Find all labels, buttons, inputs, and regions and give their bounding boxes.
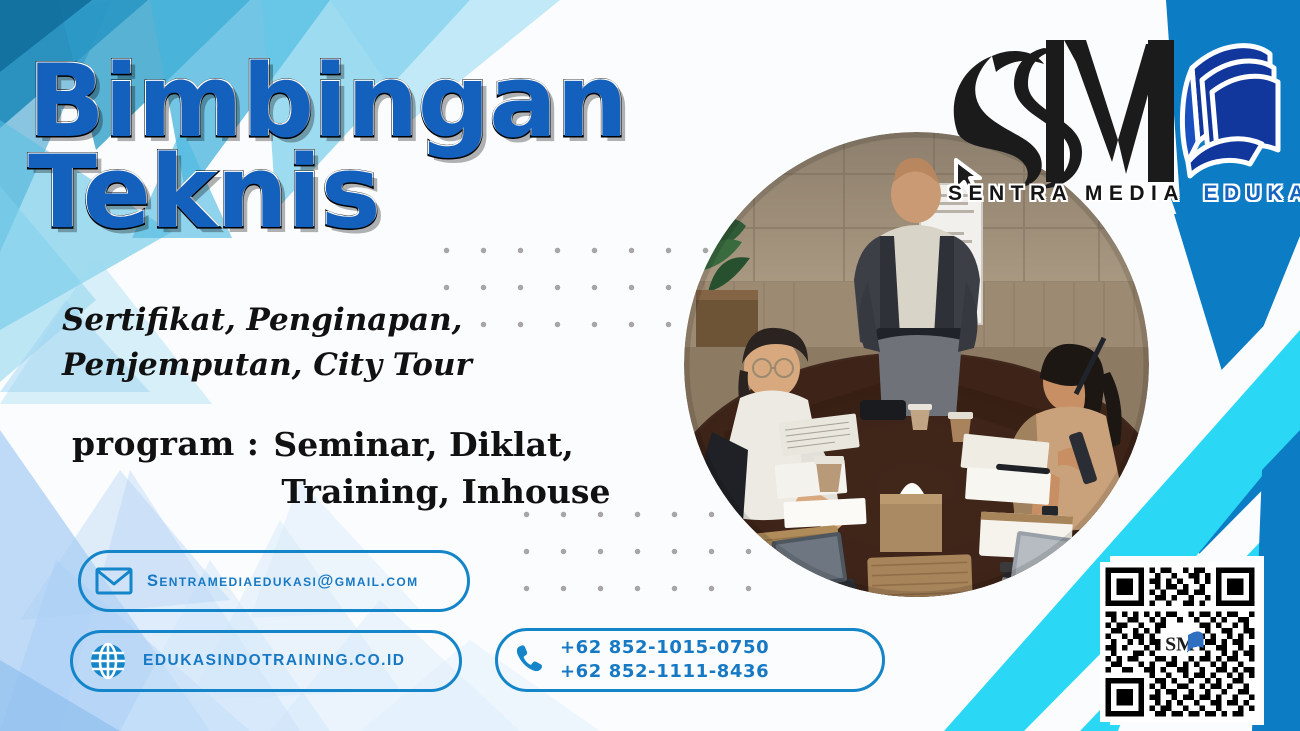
program-row: program : Seminar, Diklat, Training, Inh… [72,422,712,516]
program-values: Seminar, Diklat, Training, Inhouse [273,422,610,516]
company-logo: SENTRA MEDIA EDUKASINDO [940,22,1290,212]
globe-icon [73,642,143,680]
logo-wordmark: SENTRA MEDIA EDUKASINDO [948,182,1293,216]
phone-number-1: +62 852-1015-0750 [560,636,769,660]
qr-code[interactable]: SM [1100,562,1260,722]
tagline-line-1: Sertifikat, Penginapan, [62,298,682,343]
page-title: Bimbingan Teknis [28,52,728,242]
logo-word-black: SENTRA MEDIA [948,182,1185,205]
email-address: Sentramediaedukasi@gmail.com [147,572,419,591]
tagline: Sertifikat, Penginapan, Penjemputan, Cit… [62,298,682,388]
logo-word-blue: EDUKASINDO [1204,182,1300,205]
program-value-line-2: Training, Inhouse [281,469,610,516]
email-contact-button[interactable]: Sentramediaedukasi@gmail.com [78,550,470,612]
phone-contact-button[interactable]: +62 852-1015-0750 +62 852-1111-8436 [495,628,885,692]
phone-numbers: +62 852-1015-0750 +62 852-1111-8436 [560,636,769,685]
phone-number-2: +62 852-1111-8436 [560,660,769,684]
program-label: program : [72,422,259,467]
envelope-icon [81,567,147,595]
website-contact-button[interactable]: EDUKASINDOTRAINING.CO.ID [70,630,462,692]
phone-icon [498,643,560,677]
program-value-line-1: Seminar, Diklat, [273,422,610,469]
logo-mark [940,22,1290,197]
tagline-line-2: Penjemputan, City Tour [62,343,682,388]
promotional-banner: Bimbingan Teknis Sertifikat, Penginapan,… [0,0,1300,731]
website-url: EDUKASINDOTRAINING.CO.ID [143,652,405,670]
